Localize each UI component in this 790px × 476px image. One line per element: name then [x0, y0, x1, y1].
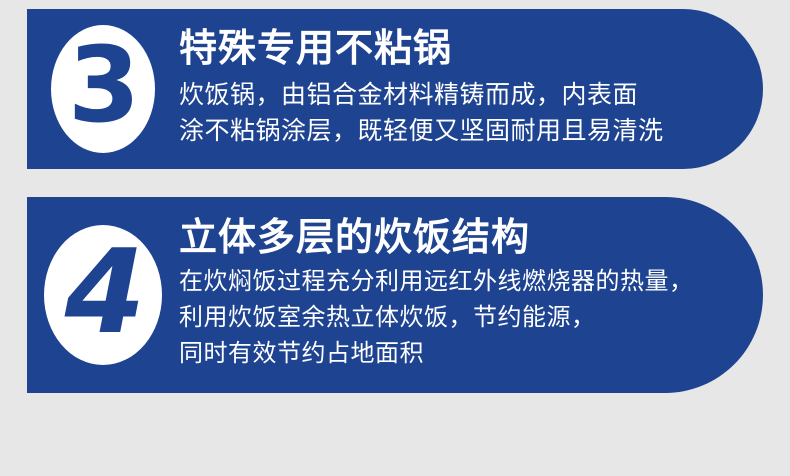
feature-description-4: 在炊焖饭过程充分利用远红外线燃烧器的热量， 利用炊饭室余热立体炊饭，节约能源， …	[179, 264, 747, 372]
badge-container-4: 4	[27, 225, 179, 365]
feature-text-block-3: 特殊专用不粘锅 炊饭锅，由铝合金材料精铸而成，内表面 涂不粘锅涂层，既轻便又坚固…	[179, 29, 763, 149]
description-line: 利用炊饭室余热立体炊饭，节约能源，	[179, 300, 747, 336]
feature-title-3: 特殊专用不粘锅	[179, 29, 747, 71]
step-number-text: 3	[68, 33, 140, 137]
step-number-badge-3: 3	[51, 25, 155, 153]
description-line: 在炊焖饭过程充分利用远红外线燃烧器的热量，	[179, 264, 747, 300]
description-line: 涂不粘锅涂层，既轻便又坚固耐用且易清洗	[179, 113, 747, 149]
feature-panel-4: 4 立体多层的炊饭结构 在炊焖饭过程充分利用远红外线燃烧器的热量， 利用炊饭室余…	[27, 197, 763, 393]
feature-panel-3: 3 特殊专用不粘锅 炊饭锅，由铝合金材料精铸而成，内表面 涂不粘锅涂层，既轻便又…	[27, 9, 763, 169]
step-number-text: 4	[65, 235, 146, 351]
badge-container-3: 3	[27, 25, 179, 153]
step-number-badge-4: 4	[44, 225, 162, 365]
feature-title-4: 立体多层的炊饭结构	[179, 218, 747, 260]
feature-panel-list: 3 特殊专用不粘锅 炊饭锅，由铝合金材料精铸而成，内表面 涂不粘锅涂层，既轻便又…	[0, 0, 790, 476]
description-line: 同时有效节约占地面积	[179, 336, 747, 372]
description-line: 炊饭锅，由铝合金材料精铸而成，内表面	[179, 77, 747, 113]
feature-description-3: 炊饭锅，由铝合金材料精铸而成，内表面 涂不粘锅涂层，既轻便又坚固耐用且易清洗	[179, 77, 747, 150]
feature-text-block-4: 立体多层的炊饭结构 在炊焖饭过程充分利用远红外线燃烧器的热量， 利用炊饭室余热立…	[179, 218, 763, 372]
